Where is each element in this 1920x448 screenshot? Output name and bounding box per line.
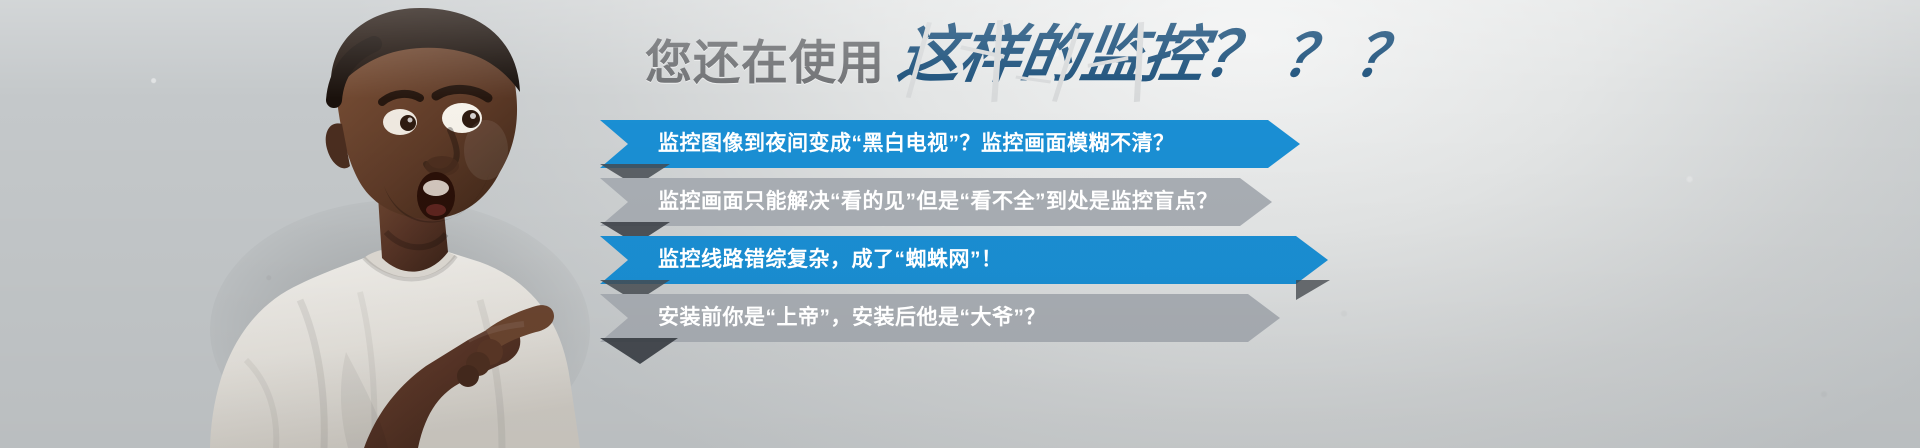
bullet-item-4: 安装前你是“上帝”，安装后他是“大爷”？ <box>600 294 1280 342</box>
headline-emphasis: 这样的监控？ <box>894 26 1269 86</box>
banner-root: 您还在使用 这样的监控？ ？？ 监控图像到夜间变成“黑白电视”？监控画面模糊 <box>0 0 1920 448</box>
bullet-item-3: 监控线路错综复杂，成了“蜘蛛网”！ <box>600 236 1328 284</box>
bullet-item-2: 监控画面只能解决“看的见”但是“看不全”到处是监控盲点？ <box>600 178 1272 226</box>
bullet-label-4: 安装前你是“上帝”，安装后他是“大爷”？ <box>658 294 1046 342</box>
headline-emphasis-text: 这样的监控？ <box>894 21 1271 90</box>
headline: 您还在使用 这样的监控？ ？？ <box>645 26 1427 86</box>
bullet-label-3: 监控线路错综复杂，成了“蜘蛛网”！ <box>658 236 1003 284</box>
bullet-list: 监控图像到夜间变成“黑白电视”？监控画面模糊不清？ 监控画面只能解决“看的见”但… <box>0 116 1920 356</box>
headline-lead: 您还在使用 <box>645 39 885 86</box>
bullet-arrow-shadow-3 <box>1296 280 1330 300</box>
bullet-label-1: 监控图像到夜间变成“黑白电视”？监控画面模糊不清？ <box>658 120 1175 168</box>
headline-question-marks: ？？ <box>1278 28 1431 86</box>
bullet-item-1: 监控图像到夜间变成“黑白电视”？监控画面模糊不清？ <box>600 120 1300 168</box>
bullet-label-2: 监控画面只能解决“看的见”但是“看不全”到处是监控盲点？ <box>658 178 1218 226</box>
